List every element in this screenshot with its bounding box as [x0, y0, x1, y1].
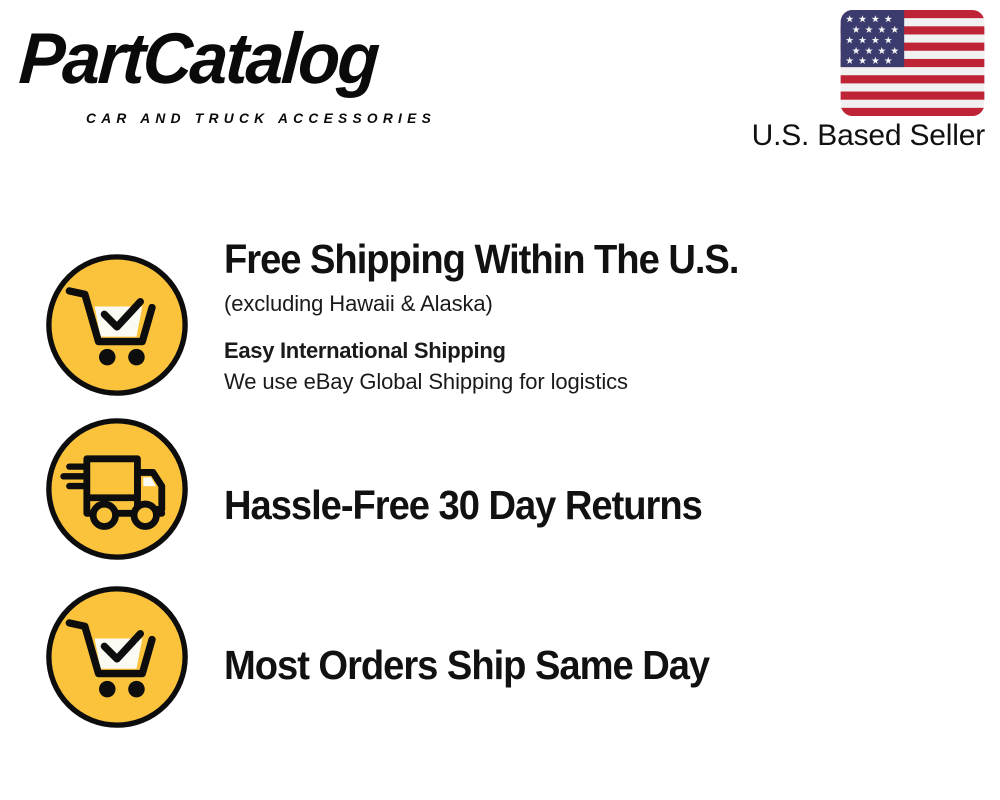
- feature-title: Free Shipping Within The U.S.: [224, 236, 946, 282]
- delivery-truck-badge: [44, 416, 190, 562]
- banner-header: PartCatalog CAR AND TRUCK ACCESSORIES: [0, 0, 1000, 170]
- feature-subdetail: We use eBay Global Shipping for logistic…: [224, 366, 1000, 397]
- feature-subnote: (excluding Hawaii & Alaska): [224, 288, 1000, 319]
- feature-list: Free Shipping Within The U.S. (excluding…: [0, 228, 1000, 730]
- brand-wordmark: PartCatalog: [17, 22, 468, 96]
- feature-subheading: Easy International Shipping: [224, 335, 1000, 366]
- us-flag-badge: [840, 10, 985, 116]
- cart-check-icon: [44, 252, 190, 398]
- cart-check-badge: [44, 584, 190, 730]
- cart-check-icon: [44, 584, 190, 730]
- delivery-truck-icon: [44, 416, 190, 562]
- feature-text-block: Most Orders Ship Same Day: [190, 570, 1000, 688]
- feature-text-block: Hassle-Free 30 Day Returns: [190, 400, 1000, 528]
- feature-text-block: Free Shipping Within The U.S. (excluding…: [190, 228, 1000, 397]
- us-based-seller-label: U.S. Based Seller: [752, 117, 985, 155]
- feature-title: Most Orders Ship Same Day: [224, 642, 946, 688]
- feature-row: Free Shipping Within The U.S. (excluding…: [0, 228, 1000, 400]
- brand-logo: PartCatalog CAR AND TRUCK ACCESSORIES: [22, 22, 492, 122]
- feature-row: Most Orders Ship Same Day: [0, 570, 1000, 730]
- feature-title: Hassle-Free 30 Day Returns: [224, 482, 946, 528]
- cart-check-badge: [44, 252, 190, 398]
- feature-row: Hassle-Free 30 Day Returns: [0, 400, 1000, 570]
- shipping-info-banner: PartCatalog CAR AND TRUCK ACCESSORIES: [0, 0, 1000, 800]
- us-flag-icon: [840, 10, 985, 116]
- brand-tagline: CAR AND TRUCK ACCESSORIES: [86, 110, 436, 126]
